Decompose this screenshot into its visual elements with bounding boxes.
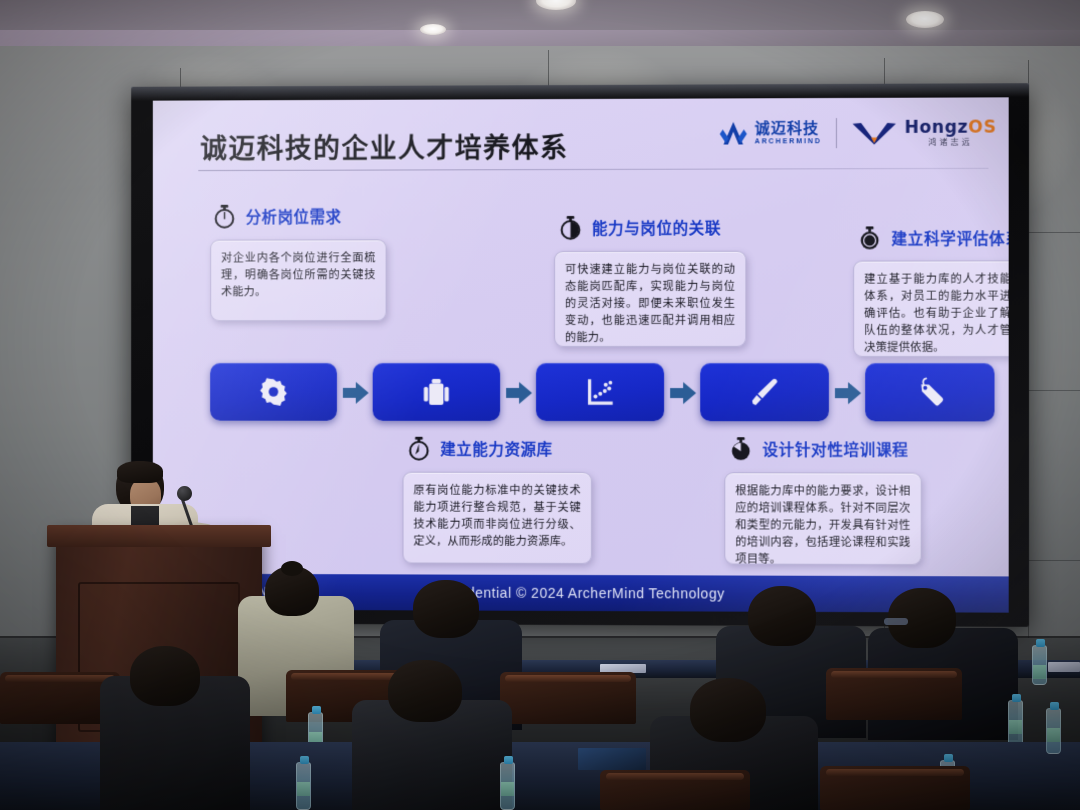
water-bottle — [1008, 700, 1023, 746]
water-bottle — [1032, 645, 1047, 685]
stopwatch-icon — [406, 436, 431, 461]
audience-head — [388, 660, 462, 722]
logo-divider — [836, 118, 837, 148]
bottle-label — [1047, 728, 1060, 742]
screen: 诚迈科技的企业人才培养体系 诚迈科技 ARCHERMIND — [153, 97, 1009, 612]
process-arrow-3 — [670, 382, 696, 404]
process-step-2[interactable] — [373, 363, 500, 421]
step-card-2: 可快速建立能力与岗位关联的动态能岗匹配库，实现能力与岗位的灵活对接。即便未来职位… — [554, 251, 746, 347]
arrow-right-icon — [835, 382, 861, 404]
chair-rail — [831, 671, 956, 678]
chair-rail — [606, 773, 744, 780]
process-step-4[interactable] — [700, 363, 829, 421]
step-title-4: 建立能力资源库 — [440, 437, 552, 459]
process-arrow-1 — [343, 382, 369, 404]
archermind-mark-icon — [718, 120, 748, 147]
chair-rail — [826, 769, 964, 776]
hongzos-en: HongzOS — [905, 119, 997, 136]
chair — [820, 766, 970, 810]
paper-document — [1048, 662, 1080, 672]
stopwatch-icon — [857, 225, 882, 250]
audience-head — [413, 580, 479, 638]
hongzos-wordmark: HongzOS 鸿诸志远 — [905, 119, 997, 146]
step-title-1: 分析岗位需求 — [246, 205, 342, 227]
archermind-wordmark: 诚迈科技 ARCHERMIND — [755, 121, 822, 145]
bottle-label — [1009, 720, 1022, 734]
step-heading-5: 设计针对性培训课程 — [728, 436, 908, 461]
tag-icon — [914, 376, 946, 408]
step-card-5: 根据能力库中的能力要求，设计相应的培训课程体系。针对不同层次和类型的元能力，开发… — [724, 472, 921, 565]
chair — [500, 672, 636, 724]
step-title-2: 能力与岗位的关联 — [592, 216, 721, 238]
hongzos-mark-icon — [851, 120, 897, 146]
presentation-slide: 诚迈科技的企业人才培养体系 诚迈科技 ARCHERMIND — [153, 97, 1009, 612]
wall-seam — [1028, 560, 1080, 561]
step-heading-3: 建立科学评估体系 — [857, 225, 1009, 250]
wall-seam — [1028, 232, 1080, 233]
step-title-5: 设计针对性培训课程 — [762, 438, 908, 460]
stopwatch-icon — [728, 436, 753, 461]
audience-head — [748, 586, 816, 646]
downlight — [420, 24, 446, 35]
eyeglasses-icon — [884, 618, 908, 625]
speaker-hair — [117, 461, 163, 483]
hongzos-cn: 鸿诸志远 — [905, 138, 997, 146]
podium-top — [47, 525, 271, 547]
chair-rail — [5, 675, 115, 682]
bottle-label — [1033, 665, 1046, 679]
step-card-4: 原有岗位能力标准中的关键技术能力项进行整合规范，基于关键技术能力项而非岗位进行分… — [403, 472, 592, 564]
water-bottle — [296, 762, 311, 810]
process-step-5[interactable] — [865, 363, 994, 421]
archermind-cn: 诚迈科技 — [755, 121, 822, 136]
stopwatch-icon — [212, 204, 237, 229]
wall-seam — [1028, 390, 1080, 391]
stopwatch-icon — [558, 215, 583, 240]
archermind-en: ARCHERMIND — [755, 138, 822, 145]
chair — [600, 770, 750, 810]
step-title-3: 建立科学评估体系 — [891, 227, 1008, 249]
audience-head — [130, 646, 200, 706]
slide-title: 诚迈科技的企业人才培养体系 — [200, 126, 568, 166]
microphone-head — [177, 486, 192, 501]
process-arrow-2 — [506, 382, 532, 404]
step-card-1: 对企业内各个岗位进行全面梳理，明确各岗位所需的关键技术能力。 — [210, 239, 386, 321]
water-bottle — [500, 762, 515, 810]
water-bottle — [1046, 708, 1061, 754]
paintbrush-icon — [748, 376, 780, 408]
arrow-right-icon — [506, 382, 532, 404]
process-step-1[interactable] — [210, 363, 337, 421]
hongzos-logo: HongzOS 鸿诸志远 — [851, 119, 996, 147]
chair-rail — [505, 675, 630, 682]
audience-head — [690, 678, 766, 742]
process-arrow-4 — [835, 382, 861, 404]
archermind-logo: 诚迈科技 ARCHERMIND — [718, 120, 821, 147]
step-heading-1: 分析岗位需求 — [212, 204, 341, 229]
logo-area: 诚迈科技 ARCHERMIND HongzOS 鸿诸志远 — [718, 118, 996, 149]
tablet-screen — [578, 748, 646, 770]
step-heading-2: 能力与岗位的关联 — [558, 215, 721, 240]
arrow-right-icon — [343, 382, 369, 404]
hair-bun — [281, 561, 303, 576]
chair — [826, 668, 962, 720]
bottle-label — [501, 782, 514, 796]
arrow-right-icon — [670, 382, 696, 404]
bottle-label — [297, 782, 310, 796]
title-underline — [198, 168, 988, 171]
briefcase-icon — [420, 376, 452, 408]
process-step-3[interactable] — [536, 363, 664, 421]
gear-icon — [258, 376, 290, 408]
downlight — [906, 11, 944, 28]
step-card-3: 建立基于能力库的人才技能评估体系，对员工的能力水平进行准确评估。也有助于企业了解… — [853, 260, 1009, 357]
scatter-chart-icon — [584, 376, 616, 408]
step-heading-4: 建立能力资源库 — [406, 436, 552, 461]
